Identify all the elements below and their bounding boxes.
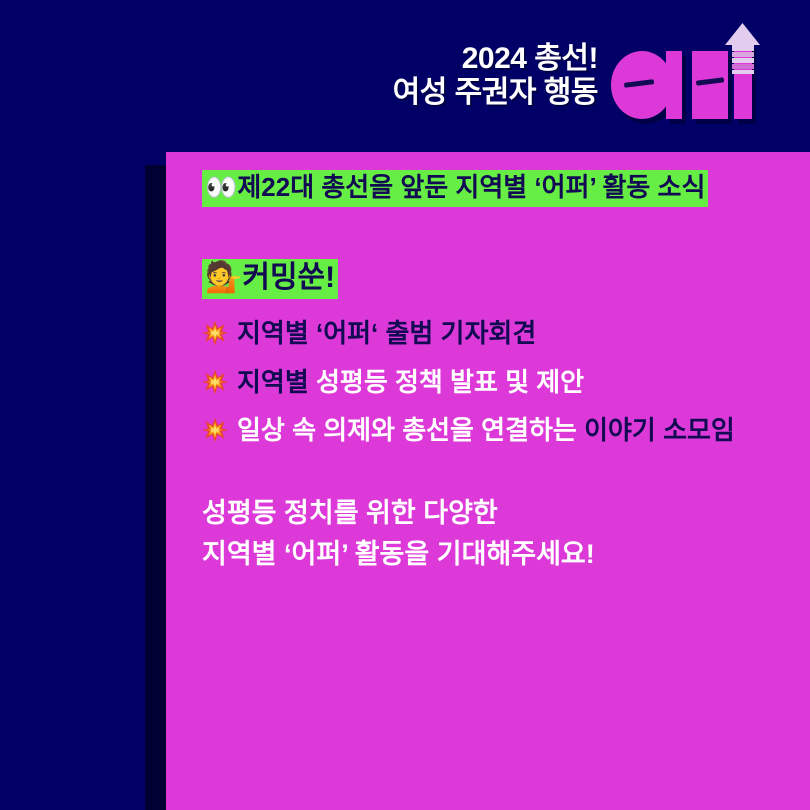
- logo-glyph-eo-stem: [666, 51, 682, 119]
- logo-arrow-stripe-1: [732, 45, 754, 51]
- poster-card: 2024 총선! 여성 주권자 행동: [0, 0, 810, 810]
- logo-arrow-stripe-4: [732, 64, 754, 69]
- content-panel: 👀제22대 총선을 앞둔 지역별 ‘어퍼’ 활동 소식 💁커밍쑨! 지역별 ‘어…: [166, 152, 810, 810]
- collision-emoji: [202, 417, 228, 443]
- closing-line-1: 성평등 정치를 위한 다양한: [202, 493, 800, 534]
- closing-line-2: 지역별 ‘어퍼’ 활동을 기대해주세요!: [202, 534, 800, 575]
- bullet-text: 일상 속 의제와 총선을 연결하는 이야기 소모임: [237, 416, 735, 445]
- headline-banner: 👀제22대 총선을 앞둔 지역별 ‘어퍼’ 활동 소식: [202, 170, 708, 207]
- logo-arrow-stripe-2: [732, 52, 754, 57]
- collision-emoji: [202, 320, 228, 346]
- bullet-text: 지역별 성평등 정책 발표 및 제안: [237, 368, 584, 397]
- coming-soon-banner: 💁커밍쑨!: [202, 259, 338, 299]
- bullet-segment: 지역별 ‘어퍼‘ 출범 기자회견: [237, 318, 536, 348]
- header-inner: 2024 총선! 여성 주권자 행동: [393, 21, 810, 131]
- upper-logo-graphic: [608, 21, 768, 133]
- upper-logo: [608, 21, 768, 131]
- header-title-line-1: 2024 총선!: [393, 42, 598, 76]
- bullet-item: 일상 속 의제와 총선을 연결하는 이야기 소모임: [202, 416, 800, 445]
- bullet-item: 지역별 성평등 정책 발표 및 제안: [202, 368, 800, 397]
- bullet-segment: 일상 속 의제와 총선을 연결하는: [237, 415, 584, 445]
- collision-emoji: [202, 369, 228, 395]
- header-title-line-2: 여성 주권자 행동: [393, 76, 598, 110]
- bullet-text: 지역별 ‘어퍼‘ 출범 기자회견: [237, 319, 536, 348]
- content-panel-body: 👀제22대 총선을 앞둔 지역별 ‘어퍼’ 활동 소식 💁커밍쑨! 지역별 ‘어…: [202, 170, 800, 575]
- spacer: [202, 207, 800, 259]
- bullet-segment: 지역별: [237, 367, 316, 397]
- bullet-item: 지역별 ‘어퍼‘ 출범 기자회견: [202, 319, 800, 348]
- bullet-segment: 이야기 소모임: [584, 415, 735, 445]
- closing-message: 성평등 정치를 위한 다양한 지역별 ‘어퍼’ 활동을 기대해주세요!: [202, 493, 800, 575]
- logo-arrow-stripe-5: [732, 70, 754, 74]
- eyes-emoji: 👀: [205, 173, 237, 203]
- poster-header: 2024 총선! 여성 주권자 행동: [0, 0, 810, 152]
- person-tipping-hand-emoji: 💁: [205, 260, 242, 295]
- logo-arrow-stripe-3: [732, 58, 754, 63]
- coming-soon-text: 커밍쑨!: [242, 261, 335, 294]
- bullet-segment: 성평등 정책 발표 및 제안: [316, 367, 584, 397]
- logo-arrow-head-icon: [725, 23, 760, 45]
- header-title: 2024 총선! 여성 주권자 행동: [393, 42, 598, 109]
- headline-text: 제22대 총선을 앞둔 지역별 ‘어퍼’ 활동 소식: [237, 172, 705, 202]
